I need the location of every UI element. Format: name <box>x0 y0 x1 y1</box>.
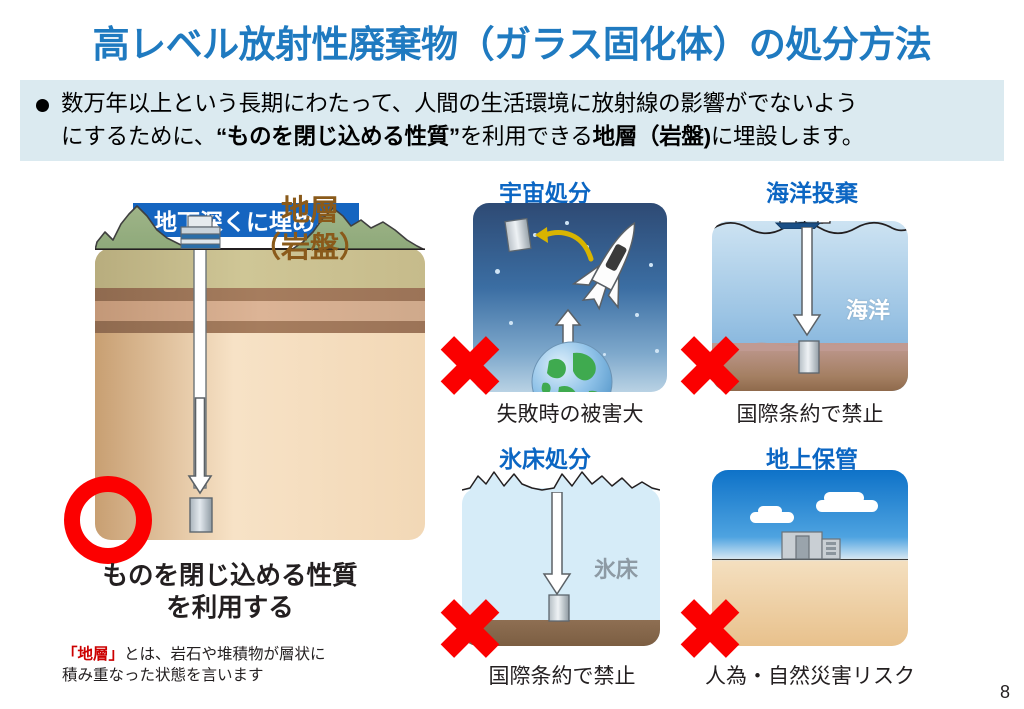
slide-root: 高レベル放射性廃棄物（ガラス固化体）の処分方法 数万年以上という長期にわたって、… <box>0 0 1024 709</box>
page-title: 高レベル放射性廃棄物（ガラス固化体）の処分方法 <box>0 14 1024 68</box>
geological-note-highlight: 「地層」 <box>62 646 124 663</box>
ice-surface-jagged <box>462 466 660 492</box>
geological-note-rest1: とは、岩石や堆積物が層状に <box>124 646 326 663</box>
geological-note-rest2: 積み重なった状態を言います <box>62 667 264 684</box>
summary-line-2d: 地層（岩盤) <box>593 124 711 149</box>
geological-headline-line1: ものを閉じ込める性質 <box>102 562 357 590</box>
geological-headline-line2: を利用する <box>166 594 294 622</box>
ice-inner-label: 氷床 <box>594 552 638 584</box>
space-disposal-illustration <box>473 203 667 392</box>
ocean-inner-label: 海洋 <box>846 293 890 325</box>
option-caption-ice: 国際条約で禁止 <box>462 660 662 690</box>
x-mark-ice <box>438 596 502 660</box>
circle-ok-icon <box>64 476 152 564</box>
summary-line-2e: に埋設します。 <box>711 124 864 149</box>
geological-note: 「地層」とは、岩石や堆積物が層状に 積み重なった状態を言います <box>62 644 412 686</box>
strata-label-line2: （岩盤） <box>252 232 368 264</box>
storage-facility-icon <box>780 528 848 560</box>
summary-line-1: 数万年以上という長期にわたって、人間の生活環境に放射線の影響がでないよう <box>61 91 858 116</box>
summary-line-2c: を利用できる <box>460 124 593 149</box>
summary-line-2a: にするために、 <box>61 124 216 149</box>
geological-headline: ものを閉じ込める性質 を利用する <box>40 560 420 624</box>
cloud-icon <box>758 506 782 516</box>
bullet-dot-icon <box>36 99 49 112</box>
option-title-ocean: 海洋投棄 <box>722 174 902 208</box>
strata-label-line1: 地層 <box>281 195 339 227</box>
waste-cask-icon <box>546 594 572 624</box>
summary-line-2b: “ものを閉じ込める性質” <box>216 124 460 149</box>
page-number: 8 <box>1000 682 1010 703</box>
summary-bullet-row: 数万年以上という長期にわたって、人間の生活環境に放射線の影響がでないよう にする… <box>36 87 996 153</box>
waste-cask-icon <box>796 339 822 377</box>
summary-bullet-text: 数万年以上という長期にわたって、人間の生活環境に放射線の影響がでないよう にする… <box>61 87 864 153</box>
sinking-arrow-icon <box>540 492 574 600</box>
option-caption-space: 失敗時の被害大 <box>470 398 670 428</box>
strata-label: 地層 （岩盤） <box>240 193 380 267</box>
cloud-icon <box>824 492 864 504</box>
x-mark-ocean <box>678 333 742 397</box>
option-caption-ocean: 国際条約で禁止 <box>710 398 910 428</box>
option-caption-ground: 人為・自然災害リスク <box>700 660 920 690</box>
x-mark-space <box>438 333 502 397</box>
earth-globe-icon <box>529 339 615 392</box>
sinking-arrow-icon <box>790 227 824 341</box>
summary-callout-box: 数万年以上という長期にわたって、人間の生活環境に放射線の影響がでないよう にする… <box>20 80 1004 161</box>
x-mark-ground <box>678 596 742 660</box>
option-title-ground: 地上保管 <box>722 440 902 474</box>
